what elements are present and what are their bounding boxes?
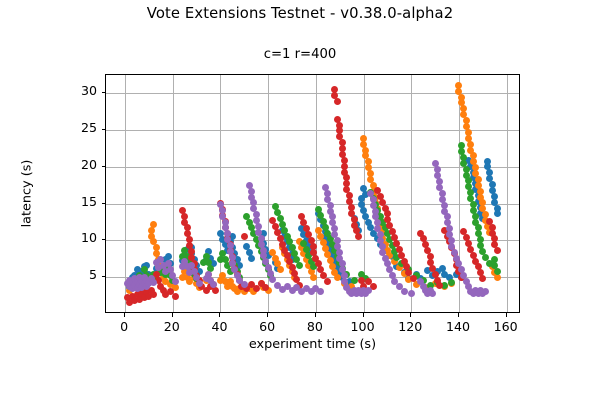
scatter-point	[258, 280, 265, 287]
scatter-point	[370, 283, 377, 290]
scatter-point	[238, 283, 245, 290]
scatter-point	[136, 281, 143, 288]
scatter-point	[489, 224, 496, 231]
scatter-point	[231, 285, 238, 292]
scatter-point	[386, 222, 393, 229]
scatter-point	[472, 219, 479, 226]
scatter-point	[260, 247, 267, 254]
scatter-point	[136, 281, 143, 288]
scatter-point	[472, 213, 479, 220]
scatter-point	[334, 116, 341, 123]
scatter-point	[336, 269, 343, 276]
scatter-point	[475, 182, 482, 189]
scatter-point	[258, 241, 265, 248]
scatter-point	[341, 157, 348, 164]
scatter-point	[179, 207, 186, 214]
scatter-point	[346, 198, 353, 205]
scatter-point	[124, 280, 131, 287]
scatter-point	[331, 269, 338, 276]
scatter-point	[370, 188, 377, 195]
scatter-point	[362, 275, 369, 282]
scatter-point	[370, 202, 377, 209]
scatter-point	[374, 211, 381, 218]
scatter-point	[365, 287, 372, 294]
scatter-point	[205, 259, 212, 266]
scatter-point	[138, 277, 145, 284]
scatter-point	[291, 250, 298, 257]
scatter-point	[336, 122, 343, 129]
scatter-point	[377, 217, 384, 224]
scatter-point	[222, 278, 229, 285]
scatter-point	[203, 253, 210, 260]
scatter-point	[370, 182, 377, 189]
scatter-point	[470, 169, 477, 176]
scatter-point	[317, 266, 324, 273]
scatter-point	[289, 244, 296, 251]
scatter-point	[382, 205, 389, 212]
scatter-point	[432, 271, 439, 278]
scatter-point	[358, 277, 365, 284]
scatter-point	[131, 283, 138, 290]
scatter-point	[374, 205, 381, 212]
scatter-point	[455, 82, 462, 89]
scatter-point	[134, 277, 141, 284]
scatter-point	[339, 139, 346, 146]
scatter-point	[439, 196, 446, 203]
scatter-point	[281, 247, 288, 254]
scatter-point	[157, 269, 164, 276]
scatter-point	[460, 160, 467, 167]
scatter-point	[155, 269, 162, 276]
scatter-point	[227, 241, 234, 248]
scatter-point	[260, 230, 267, 237]
scatter-point	[188, 262, 195, 269]
scatter-point	[255, 229, 262, 236]
scatter-point	[413, 271, 420, 278]
scatter-point	[320, 272, 327, 279]
scatter-point	[424, 247, 431, 254]
scatter-point	[126, 277, 133, 284]
scatter-point	[460, 111, 467, 118]
scatter-point	[351, 277, 358, 284]
scatter-point	[145, 274, 152, 281]
scatter-point	[446, 274, 453, 281]
scatter-point	[346, 192, 353, 199]
scatter-point	[148, 275, 155, 282]
scatter-point	[205, 271, 212, 278]
scatter-point	[475, 176, 482, 183]
scatter-point	[227, 242, 234, 249]
scatter-point	[355, 227, 362, 234]
y-tick-mark	[102, 276, 106, 277]
scatter-point	[184, 253, 191, 260]
scatter-point	[196, 280, 203, 287]
scatter-point	[153, 259, 160, 266]
scatter-point	[138, 290, 145, 297]
x-tick-label: 140	[435, 319, 481, 334]
scatter-point	[365, 158, 372, 165]
scatter-point	[219, 206, 226, 213]
scatter-point	[248, 255, 255, 262]
scatter-point	[327, 202, 334, 209]
scatter-point	[472, 287, 479, 294]
scatter-point	[420, 283, 427, 290]
scatter-point	[351, 215, 358, 222]
scatter-point	[150, 221, 157, 228]
scatter-point	[303, 237, 310, 244]
scatter-point	[441, 208, 448, 215]
scatter-point	[475, 198, 482, 205]
scatter-point	[293, 284, 300, 291]
scatter-point	[331, 86, 338, 93]
scatter-point	[427, 282, 434, 289]
scatter-point	[472, 186, 479, 193]
scatter-point	[377, 213, 384, 220]
scatter-point	[374, 225, 381, 232]
scatter-point	[436, 282, 443, 289]
scatter-point	[217, 201, 224, 208]
scatter-point	[491, 199, 498, 206]
scatter-point	[420, 235, 427, 242]
scatter-point	[401, 270, 408, 277]
scatter-point	[165, 266, 172, 273]
scatter-point	[453, 256, 460, 263]
scatter-point	[403, 263, 410, 270]
scatter-point	[181, 268, 188, 275]
scatter-point	[131, 277, 138, 284]
scatter-point	[236, 277, 243, 284]
gridline-vertical	[173, 75, 174, 312]
scatter-point	[219, 213, 226, 220]
scatter-point	[181, 213, 188, 220]
scatter-point	[453, 262, 460, 269]
scatter-point	[255, 223, 262, 230]
scatter-point	[243, 285, 250, 292]
scatter-point	[160, 274, 167, 281]
scatter-point	[184, 274, 191, 281]
scatter-point	[341, 169, 348, 176]
scatter-point	[377, 231, 384, 238]
scatter-point	[417, 275, 424, 282]
scatter-point	[300, 231, 307, 238]
gridline-vertical	[459, 75, 460, 312]
scatter-point	[265, 266, 272, 273]
scatter-point	[179, 274, 186, 281]
scatter-point	[475, 263, 482, 270]
scatter-point	[489, 263, 496, 270]
scatter-point	[248, 194, 255, 201]
x-tick-label: 40	[196, 319, 242, 334]
scatter-point	[196, 284, 203, 291]
scatter-point	[298, 288, 305, 295]
scatter-point	[227, 268, 234, 275]
scatter-point	[379, 229, 386, 236]
scatter-point	[298, 213, 305, 220]
y-tick-mark	[102, 92, 106, 93]
scatter-point	[334, 263, 341, 270]
scatter-point	[491, 193, 498, 200]
y-tick-label: 10	[57, 230, 97, 245]
scatter-point	[317, 288, 324, 295]
scatter-point	[336, 255, 343, 262]
scatter-point	[236, 262, 243, 269]
scatter-point	[334, 274, 341, 281]
scatter-point	[351, 216, 358, 223]
scatter-point	[389, 242, 396, 249]
scatter-point	[217, 256, 224, 263]
scatter-point	[262, 258, 269, 265]
scatter-point	[186, 260, 193, 267]
scatter-point	[358, 201, 365, 208]
scatter-point	[413, 281, 420, 288]
scatter-point	[479, 290, 486, 297]
scatter-point	[370, 230, 377, 237]
scatter-point	[155, 277, 162, 284]
scatter-point	[477, 269, 484, 276]
scatter-point	[126, 283, 133, 290]
scatter-point	[224, 235, 231, 242]
scatter-point	[231, 266, 238, 273]
scatter-point	[234, 268, 241, 275]
scatter-point	[143, 272, 150, 279]
scatter-point	[203, 256, 210, 263]
scatter-point	[289, 250, 296, 257]
scatter-point	[491, 235, 498, 242]
scatter-point	[339, 266, 346, 273]
scatter-point	[150, 291, 157, 298]
scatter-point	[157, 256, 164, 263]
scatter-point	[274, 265, 281, 272]
scatter-point	[322, 184, 329, 191]
scatter-point	[467, 141, 474, 148]
scatter-point	[260, 284, 267, 291]
scatter-point	[324, 251, 331, 258]
scatter-point	[434, 268, 441, 275]
y-tick-label: 30	[57, 83, 97, 98]
scatter-point	[162, 278, 169, 285]
scatter-point	[210, 260, 217, 267]
scatter-point	[300, 219, 307, 226]
scatter-point	[272, 255, 279, 262]
scatter-point	[455, 268, 462, 275]
scatter-point	[153, 271, 160, 278]
scatter-point	[463, 166, 470, 173]
scatter-point	[444, 233, 451, 240]
scatter-point	[234, 288, 241, 295]
scatter-point	[358, 290, 365, 297]
scatter-point	[470, 290, 477, 297]
scatter-point	[391, 278, 398, 285]
scatter-point	[422, 241, 429, 248]
scatter-point	[382, 224, 389, 231]
scatter-point	[136, 274, 143, 281]
scatter-point	[372, 194, 379, 201]
y-tick-mark	[102, 166, 106, 167]
scatter-point	[145, 271, 152, 278]
scatter-point	[355, 287, 362, 294]
scatter-point	[424, 290, 431, 297]
scatter-point	[489, 181, 496, 188]
scatter-point	[479, 275, 486, 282]
scatter-point	[303, 285, 310, 292]
scatter-point	[384, 260, 391, 267]
scatter-point	[291, 274, 298, 281]
scatter-point	[346, 278, 353, 285]
scatter-point	[365, 164, 372, 171]
scatter-point	[193, 262, 200, 269]
scatter-points	[106, 75, 519, 312]
scatter-point	[377, 223, 384, 230]
scatter-point	[477, 236, 484, 243]
scatter-point	[479, 248, 486, 255]
scatter-point	[331, 231, 338, 238]
scatter-point	[448, 237, 455, 244]
scatter-point	[460, 154, 467, 161]
scatter-point	[331, 92, 338, 99]
gridline-horizontal	[106, 277, 519, 278]
scatter-point	[410, 275, 417, 282]
scatter-point	[310, 243, 317, 250]
scatter-point	[141, 269, 148, 276]
scatter-point	[477, 188, 484, 195]
scatter-point	[389, 228, 396, 235]
scatter-point	[136, 272, 143, 279]
scatter-point	[279, 241, 286, 248]
scatter-point	[484, 158, 491, 165]
scatter-point	[343, 271, 350, 278]
scatter-point	[408, 290, 415, 297]
scatter-point	[260, 240, 267, 247]
scatter-point	[463, 117, 470, 124]
scatter-point	[341, 272, 348, 279]
scatter-point	[365, 219, 372, 226]
scatter-point	[210, 281, 217, 288]
scatter-point	[491, 269, 498, 276]
scatter-point	[155, 262, 162, 269]
scatter-point	[300, 250, 307, 257]
scatter-point	[281, 233, 288, 240]
x-tick-mark	[363, 313, 364, 317]
scatter-point	[184, 255, 191, 262]
scatter-point	[374, 187, 381, 194]
scatter-point	[224, 283, 231, 290]
scatter-point	[448, 279, 455, 286]
scatter-point	[272, 223, 279, 230]
scatter-point	[205, 271, 212, 278]
scatter-point	[222, 219, 229, 226]
scatter-point	[179, 253, 186, 260]
scatter-point	[343, 174, 350, 181]
scatter-point	[153, 244, 160, 251]
gridline-horizontal	[106, 204, 519, 205]
scatter-point	[188, 254, 195, 261]
scatter-point	[413, 272, 420, 279]
x-tick-mark	[124, 313, 125, 317]
scatter-point	[169, 272, 176, 279]
scatter-point	[160, 265, 167, 272]
scatter-point	[224, 236, 231, 243]
scatter-point	[360, 287, 367, 294]
scatter-point	[277, 266, 284, 273]
scatter-point	[467, 246, 474, 253]
scatter-point	[269, 276, 276, 283]
x-tick-label: 120	[387, 319, 433, 334]
y-axis-label: latency (s)	[20, 124, 35, 264]
scatter-point	[398, 260, 405, 267]
scatter-point	[141, 274, 148, 281]
scatter-point	[470, 152, 477, 159]
scatter-point	[191, 271, 198, 278]
scatter-point	[475, 224, 482, 231]
page-title: Vote Extensions Testnet - v0.38.0-alpha2	[0, 5, 600, 22]
scatter-point	[367, 189, 374, 196]
scatter-point	[284, 233, 291, 240]
scatter-point	[236, 285, 243, 292]
scatter-point	[219, 236, 226, 243]
scatter-point	[465, 135, 472, 142]
scatter-point	[196, 268, 203, 275]
scatter-point	[162, 268, 169, 275]
scatter-point	[131, 275, 138, 282]
scatter-point	[465, 157, 472, 164]
scatter-point	[224, 262, 231, 269]
scatter-point	[231, 265, 238, 272]
scatter-point	[436, 178, 443, 185]
scatter-point	[451, 249, 458, 256]
scatter-point	[265, 264, 272, 271]
scatter-point	[370, 188, 377, 195]
scatter-point	[458, 148, 465, 155]
scatter-point	[260, 252, 267, 259]
scatter-point	[434, 279, 441, 286]
scatter-point	[138, 268, 145, 275]
scatter-point	[131, 272, 138, 279]
scatter-point	[200, 259, 207, 266]
scatter-point	[129, 278, 136, 285]
scatter-point	[126, 299, 133, 306]
scatter-point	[417, 230, 424, 237]
scatter-point	[441, 202, 448, 209]
scatter-point	[222, 224, 229, 231]
scatter-point	[491, 241, 498, 248]
scatter-point	[486, 175, 493, 182]
scatter-point	[300, 240, 307, 247]
scatter-point	[386, 266, 393, 273]
scatter-point	[360, 283, 367, 290]
gridline-vertical	[364, 75, 365, 312]
scatter-point	[329, 252, 336, 259]
scatter-point	[289, 264, 296, 271]
scatter-point	[207, 283, 214, 290]
scatter-point	[379, 235, 386, 242]
scatter-point	[405, 266, 412, 273]
scatter-point	[446, 225, 453, 232]
scatter-point	[315, 227, 322, 234]
scatter-point	[439, 190, 446, 197]
scatter-point	[458, 99, 465, 106]
scatter-point	[336, 249, 343, 256]
scatter-point	[446, 238, 453, 245]
scatter-point	[222, 218, 229, 225]
scatter-point	[279, 286, 286, 293]
scatter-point	[427, 259, 434, 266]
gridline-vertical	[268, 75, 269, 312]
y-tick-label: 20	[57, 157, 97, 172]
scatter-point	[231, 262, 238, 269]
scatter-point	[372, 201, 379, 208]
scatter-point	[274, 209, 281, 216]
scatter-point	[186, 278, 193, 285]
